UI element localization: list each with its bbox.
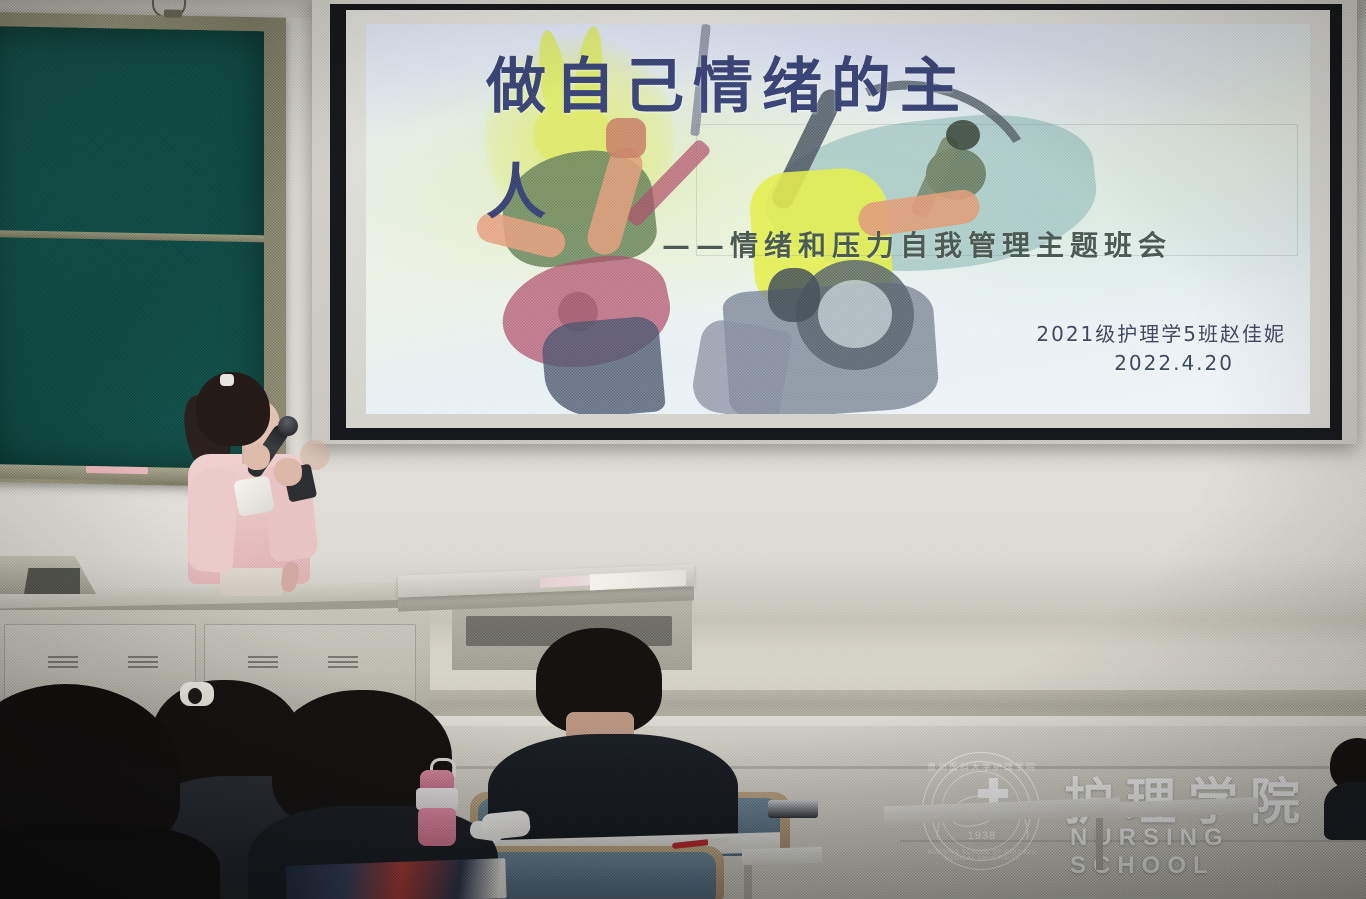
bottle-base (418, 808, 456, 846)
guitarist-hand (606, 118, 646, 158)
slide-date: 2022.4.20 (1114, 351, 1234, 375)
hair-clip (220, 374, 234, 386)
tambourine-hand (768, 268, 820, 322)
cabinet-vent-2 (128, 656, 158, 668)
seal-arc-bottom-text: NURSING SCHOOL OF GUIZHOU MEDICAL UNIVER… (922, 850, 1042, 862)
cabinet-vent-4 (328, 656, 358, 668)
open-magazine[interactable] (285, 858, 506, 899)
photo-canvas: 做自己情绪的主 人 ——情绪和压力自我管理主题班会 2021级护理学5班赵佳妮 … (0, 0, 1366, 899)
cabinet-vent-1 (48, 656, 78, 668)
tambourine-player-back-leg (689, 317, 794, 414)
slide-subtitle: ——情绪和压力自我管理主题班会 (662, 224, 1172, 264)
tissue-pack[interactable] (481, 810, 531, 841)
desk-leg-a (1096, 818, 1103, 870)
student-body (0, 824, 220, 899)
bottle-middle (416, 788, 458, 810)
student-foreground-left (0, 684, 220, 899)
cabinet-vent-3 (248, 656, 278, 668)
blackboard-clip (164, 9, 182, 17)
bottle-cap (420, 770, 454, 790)
seal-arc-top-text: 贵州医科大学护理学院 (922, 760, 1042, 773)
slide-title-line1: 做自己情绪的主 (486, 56, 1246, 119)
presenter-left-arm (186, 467, 239, 574)
slide-presenter: 2021级护理学5班赵佳妮 (1036, 318, 1286, 347)
desk-row1-right (742, 847, 822, 865)
water-bottle[interactable] (412, 760, 460, 846)
student-body (1324, 782, 1366, 840)
presenter-skirt (220, 568, 282, 596)
presenter-right-hand (274, 458, 302, 486)
presenter-left-hand (244, 444, 270, 470)
podium-step-shadow (24, 568, 80, 594)
tambourine-skin (818, 280, 892, 348)
presenter-notes (233, 475, 275, 517)
watermark-english: NURSING SCHOOL (1070, 824, 1342, 880)
guitarist-legs (540, 315, 666, 414)
slide-title-line2: 人 (486, 144, 555, 231)
chalk-stick (86, 466, 148, 474)
presentation-slide[interactable]: 做自己情绪的主 人 ——情绪和压力自我管理主题班会 2021级护理学5班赵佳妮 … (366, 24, 1310, 414)
student-center-male (492, 628, 792, 848)
student-far-right (1330, 738, 1366, 828)
presenter (182, 372, 328, 598)
seal-year: 1938 (922, 830, 1042, 842)
phone-on-desk[interactable] (768, 800, 818, 818)
